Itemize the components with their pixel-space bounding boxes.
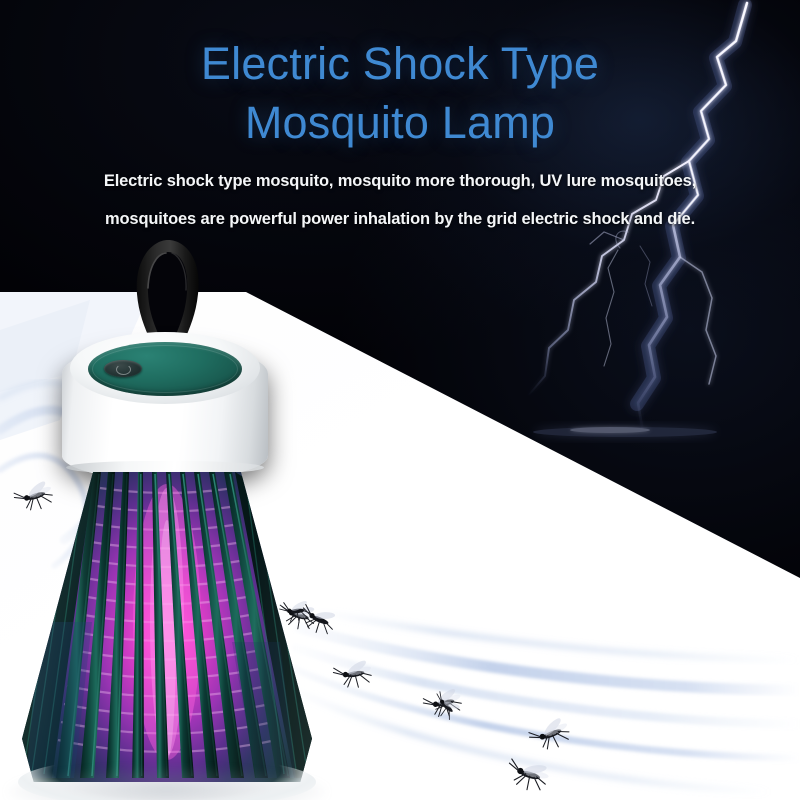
power-button-icon[interactable] — [104, 360, 142, 377]
cage-fins — [22, 472, 312, 782]
mosquito-lamp-product — [22, 236, 312, 800]
lamp-base-rim — [18, 756, 316, 800]
power-glyph — [116, 364, 131, 375]
product-poster: Electric Shock Type Mosquito Lamp Electr… — [0, 0, 800, 800]
lamp-cage — [22, 472, 312, 782]
lamp-top-disc — [88, 342, 242, 396]
